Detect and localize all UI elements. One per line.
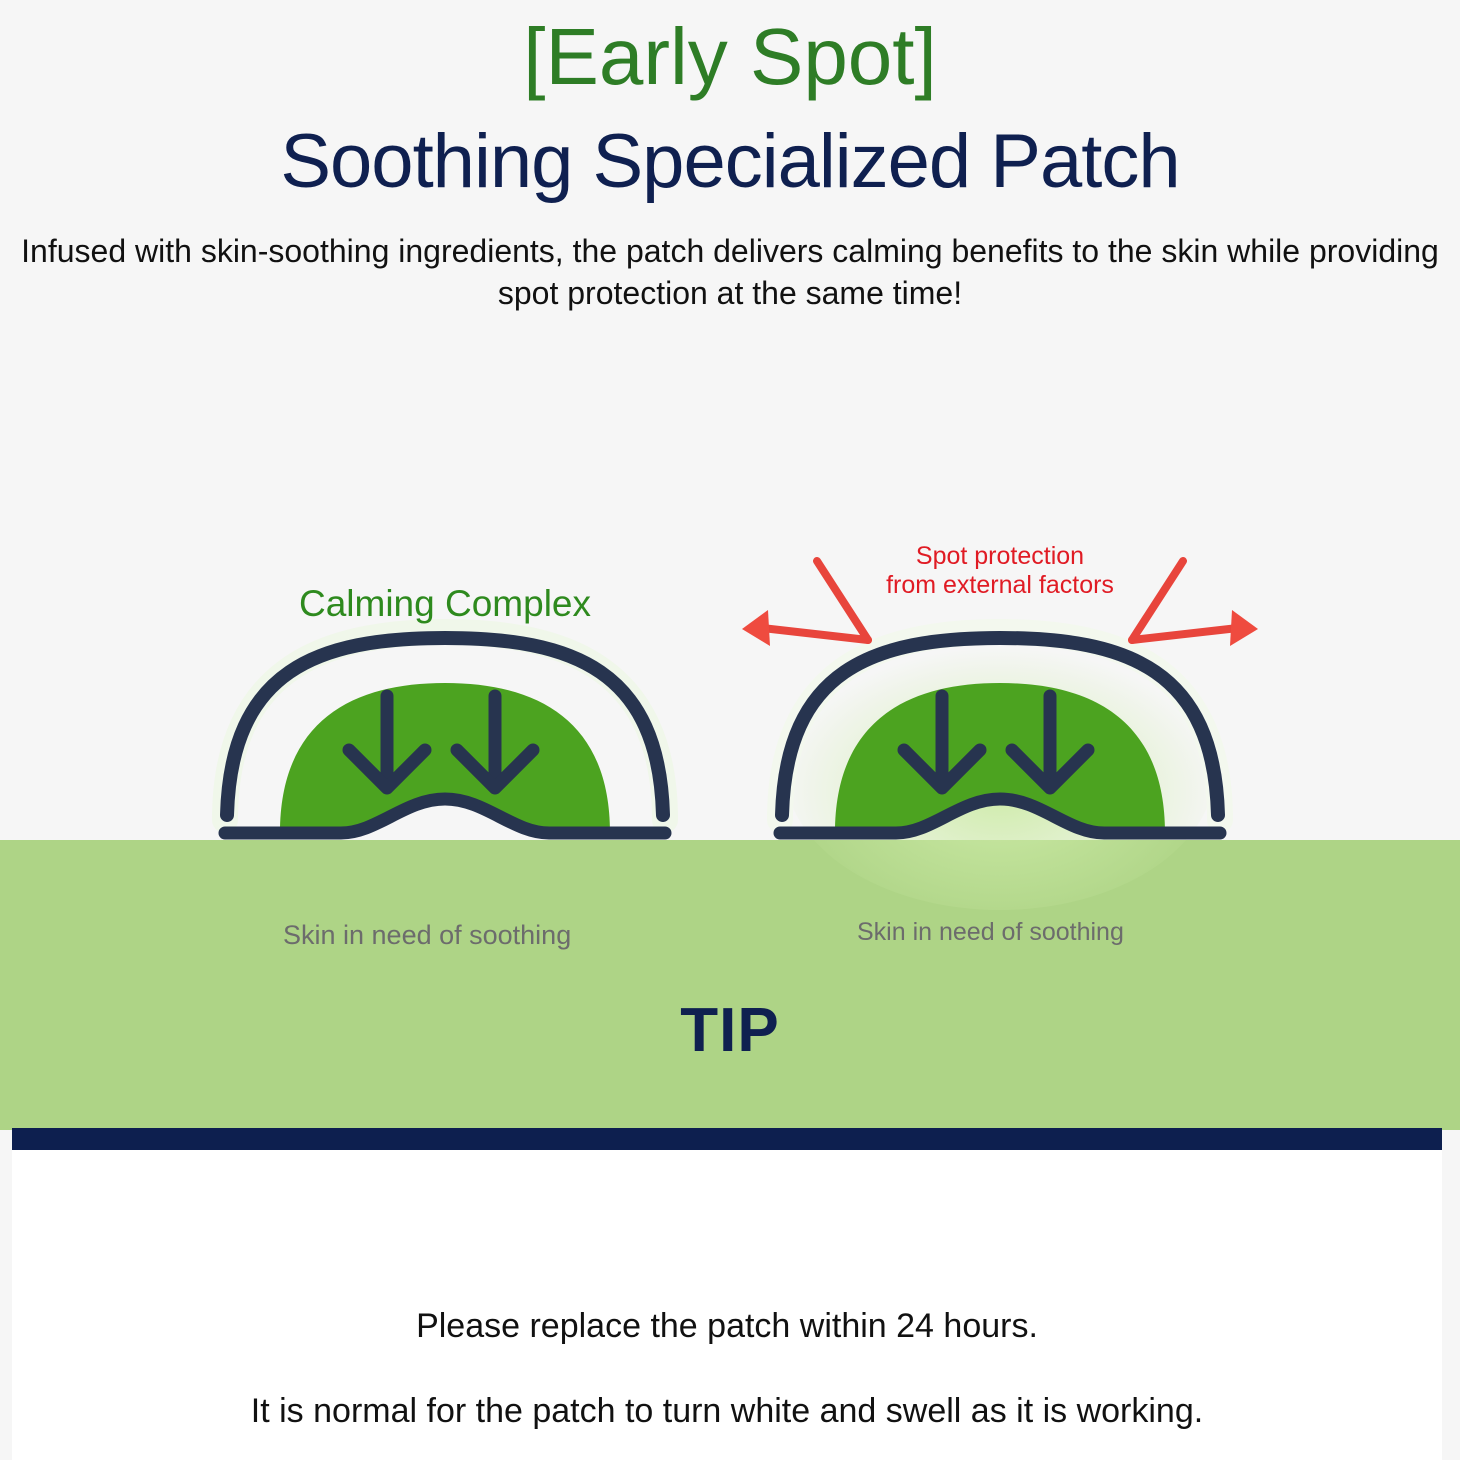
tip-line-1: Please replace the patch within 24 hours… [12,1307,1442,1346]
diagram-row: Calming Complex [0,520,1460,860]
spot-protection-label-line1: Spot protection [720,542,1280,571]
product-info-page: [Early Spot] Soothing Specialized Patch … [0,0,1460,1460]
diagram-calming-complex: Calming Complex [165,520,725,860]
tip-heading: TIP [0,995,1460,1066]
page-header: [Early Spot] Soothing Specialized Patch … [0,0,1460,315]
diagram-spot-protection: Spot protection from external factors [720,520,1280,860]
eyebrow-label: [Early Spot] [0,0,1460,100]
spot-protection-label: Spot protection from external factors [720,542,1280,600]
page-subtitle: Infused with skin-soothing ingredients, … [0,202,1460,314]
green-mound-shape [280,683,610,833]
calming-complex-illustration [165,520,725,860]
caption-right: Skin in need of soothing [857,918,1124,947]
caption-left: Skin in need of soothing [283,920,571,951]
tip-line-2: It is normal for the patch to turn white… [12,1392,1442,1431]
green-band [0,840,1460,1130]
page-title: Soothing Specialized Patch [0,100,1460,202]
tip-card: Please replace the patch within 24 hours… [12,1128,1442,1460]
spot-protection-label-line2: from external factors [720,571,1280,600]
calming-complex-label: Calming Complex [165,583,725,625]
